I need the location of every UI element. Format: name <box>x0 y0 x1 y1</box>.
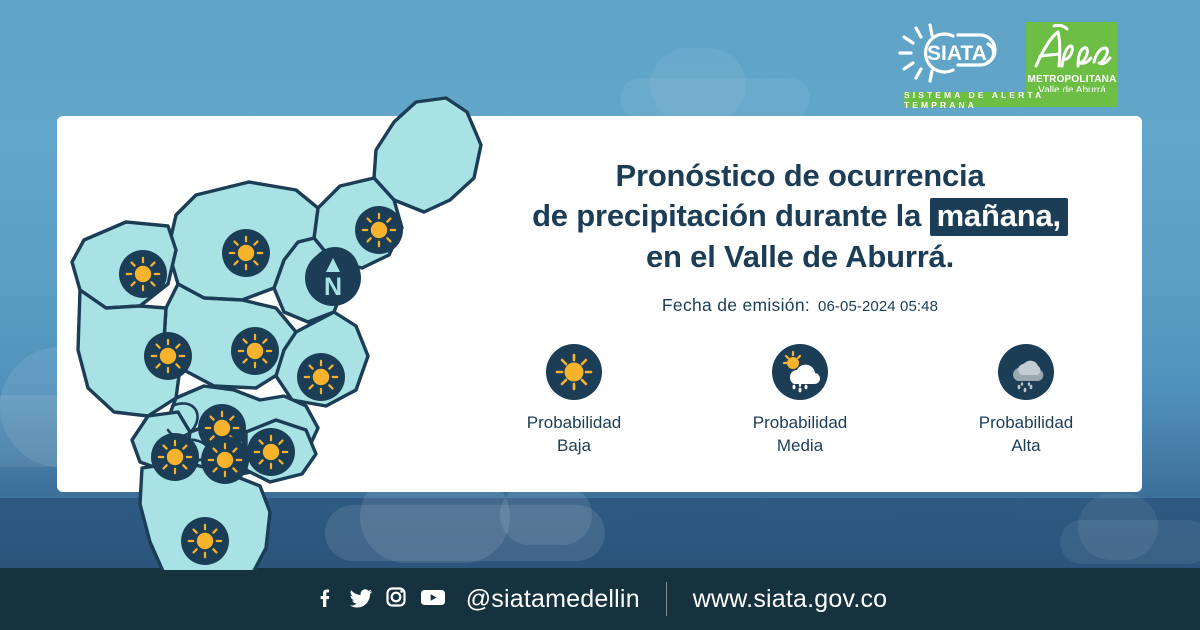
tagline-banner: SISTEMA DE ALERTA TEMPRANA <box>904 92 1118 107</box>
header-logos: SIATA METROPOLITANA Valle de Aburrá <box>896 22 1118 100</box>
area-metropolitana-line1: METROPOLITANA <box>1027 75 1116 86</box>
emission-date: Fecha de emisión: 06-05-2024 05:48 <box>470 295 1130 316</box>
legend-item-alta: Probabilidad Alta <box>952 344 1100 458</box>
legend-item-media: Probabilidad Media <box>726 344 874 458</box>
title-line-2-text: de precipitación durante la <box>532 198 921 233</box>
website-url[interactable]: www.siata.gov.co <box>693 585 887 614</box>
decorative-cloud <box>620 78 810 118</box>
legend-label-alta: Probabilidad Alta <box>952 412 1100 458</box>
valle-de-aburra-map: N <box>44 50 484 570</box>
title-line-3: en el Valle de Aburrá. <box>470 237 1130 277</box>
highlight-period: mañana, <box>930 198 1068 236</box>
legend-alta-line2: Alta <box>952 435 1100 458</box>
marker-sabaneta[interactable] <box>201 436 249 484</box>
legend-label-media: Probabilidad Media <box>726 412 874 458</box>
marker-girardota[interactable] <box>355 206 403 254</box>
marker-bello-north[interactable] <box>222 229 270 277</box>
legend-alta-line1: Probabilidad <box>952 412 1100 435</box>
social-handle[interactable]: @siatamedellin <box>466 585 640 614</box>
marker-medellin-n[interactable] <box>297 353 345 401</box>
marker-bello[interactable] <box>231 327 279 375</box>
marker-west[interactable] <box>144 332 192 380</box>
svg-text:N: N <box>324 273 342 301</box>
emission-date-value: 06-05-2024 05:48 <box>818 298 938 315</box>
footer-divider <box>666 582 667 616</box>
legend-media-line2: Media <box>726 435 874 458</box>
twitter-icon[interactable] <box>348 584 374 615</box>
legend-media-line1: Probabilidad <box>726 412 874 435</box>
social-links <box>313 584 448 615</box>
title-line-2: de precipitación durante la mañana, <box>470 196 1130 236</box>
sun-rain-cloud-icon <box>772 344 828 400</box>
decorative-cloud <box>1060 520 1200 564</box>
area-script-wordmark <box>1026 24 1118 72</box>
marker-envigado[interactable] <box>247 428 295 476</box>
north-arrow-compass: N <box>305 250 361 306</box>
instagram-icon[interactable] <box>383 584 409 615</box>
footer-bar: @siatamedellin www.siata.gov.co <box>0 568 1200 630</box>
rain-cloud-icon <box>998 344 1054 400</box>
title-line-1: Pronóstico de ocurrencia <box>470 156 1130 196</box>
marker-caldas[interactable] <box>181 517 229 565</box>
legend-label-baja: Probabilidad Baja <box>500 412 648 458</box>
sun-icon <box>546 344 602 400</box>
legend-item-baja: Probabilidad Baja <box>500 344 648 458</box>
emission-date-label: Fecha de emisión: <box>662 295 810 316</box>
page-title: Pronóstico de ocurrencia de precipitació… <box>470 156 1130 277</box>
facebook-icon[interactable] <box>313 584 339 615</box>
area-metropolitana-logo: METROPOLITANA Valle de Aburrá <box>1026 22 1118 100</box>
probability-legend: Probabilidad Baja <box>470 344 1130 458</box>
siata-sun-cloud-logo: SIATA <box>896 22 1016 84</box>
youtube-icon[interactable] <box>418 584 448 615</box>
legend-baja-line2: Baja <box>500 435 648 458</box>
legend-baja-line1: Probabilidad <box>500 412 648 435</box>
forecast-content: Pronóstico de ocurrencia de precipitació… <box>470 156 1130 458</box>
marker-san-pedro[interactable] <box>119 250 167 298</box>
siata-logo-text: SIATA <box>927 42 987 65</box>
marker-itagui[interactable] <box>151 433 199 481</box>
